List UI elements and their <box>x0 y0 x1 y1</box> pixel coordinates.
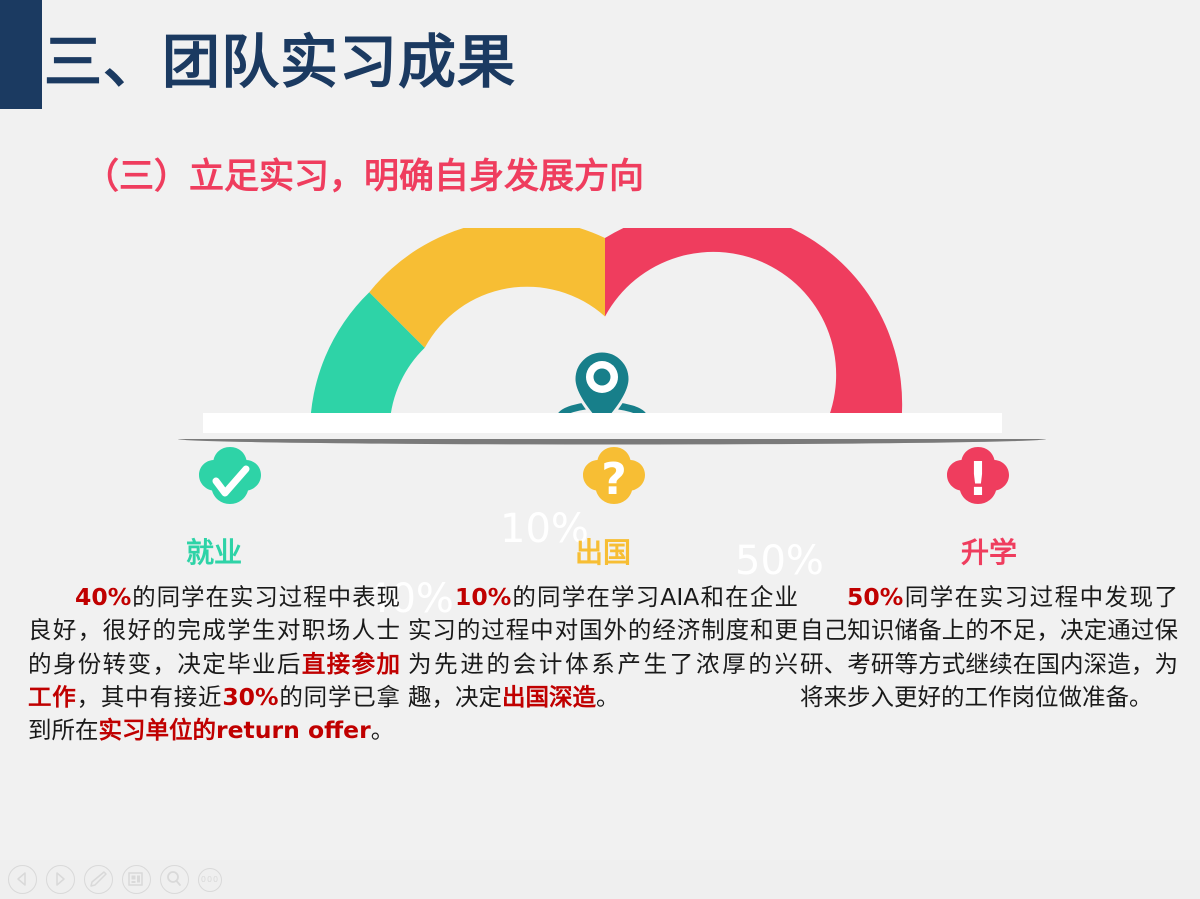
triangle-right-icon <box>47 866 73 892</box>
cloud-check-icon <box>196 445 264 507</box>
svg-text:!: ! <box>968 452 989 506</box>
next-slide-button[interactable] <box>46 865 75 894</box>
ellipsis-icon: 000 <box>199 869 221 890</box>
cloud-exclamation-icon: ! <box>944 445 1012 507</box>
cloud-question-icon: ? <box>580 445 648 507</box>
more-options-button[interactable]: 000 <box>198 868 222 892</box>
column-abroad: 出国 10%的同学在学习AIA和在企业实习的过程中对国外的经济制度和更为先进的会… <box>408 538 798 714</box>
slide-grid-button[interactable] <box>122 865 151 894</box>
platform-shadow <box>178 432 1046 444</box>
zoom-button[interactable] <box>160 865 189 894</box>
column-heading-abroad: 出国 <box>408 538 798 569</box>
column-further-study: 升学 50%同学在实习过程中发现了自己知识储备上的不足，决定通过保研、考研等方式… <box>800 538 1178 714</box>
column-employment: 就业 40%的同学在实习过程中表现良好，很好的完成学生对职场人士的身份转变，决定… <box>28 538 400 748</box>
svg-text:?: ? <box>601 454 627 505</box>
magnifier-icon <box>161 866 187 892</box>
column-body-abroad: 10%的同学在学习AIA和在企业实习的过程中对国外的经济制度和更为先进的会计体系… <box>408 581 798 714</box>
column-heading-further-study: 升学 <box>800 538 1178 569</box>
presentation-toolbar: 000 <box>0 860 1200 899</box>
page-title: 三、团队实习成果 <box>44 34 516 92</box>
column-body-employment: 40%的同学在实习过程中表现良好，很好的完成学生对职场人士的身份转变，决定毕业后… <box>28 581 400 748</box>
previous-slide-button[interactable] <box>8 865 37 894</box>
pen-tool-button[interactable] <box>84 865 113 894</box>
column-body-further-study: 50%同学在实习过程中发现了自己知识储备上的不足，决定通过保研、考研等方式继续在… <box>800 581 1178 714</box>
pen-icon <box>85 866 111 892</box>
page-subtitle: （三）立足实习，明确自身发展方向 <box>84 148 644 199</box>
grid-icon <box>123 866 149 892</box>
triangle-left-icon <box>9 866 35 892</box>
slide-canvas: 三、团队实习成果 （三）立足实习，明确自身发展方向 40% 10% 50% <box>0 0 1200 860</box>
title-accent-block <box>0 0 42 109</box>
column-heading-employment: 就业 <box>28 538 400 569</box>
